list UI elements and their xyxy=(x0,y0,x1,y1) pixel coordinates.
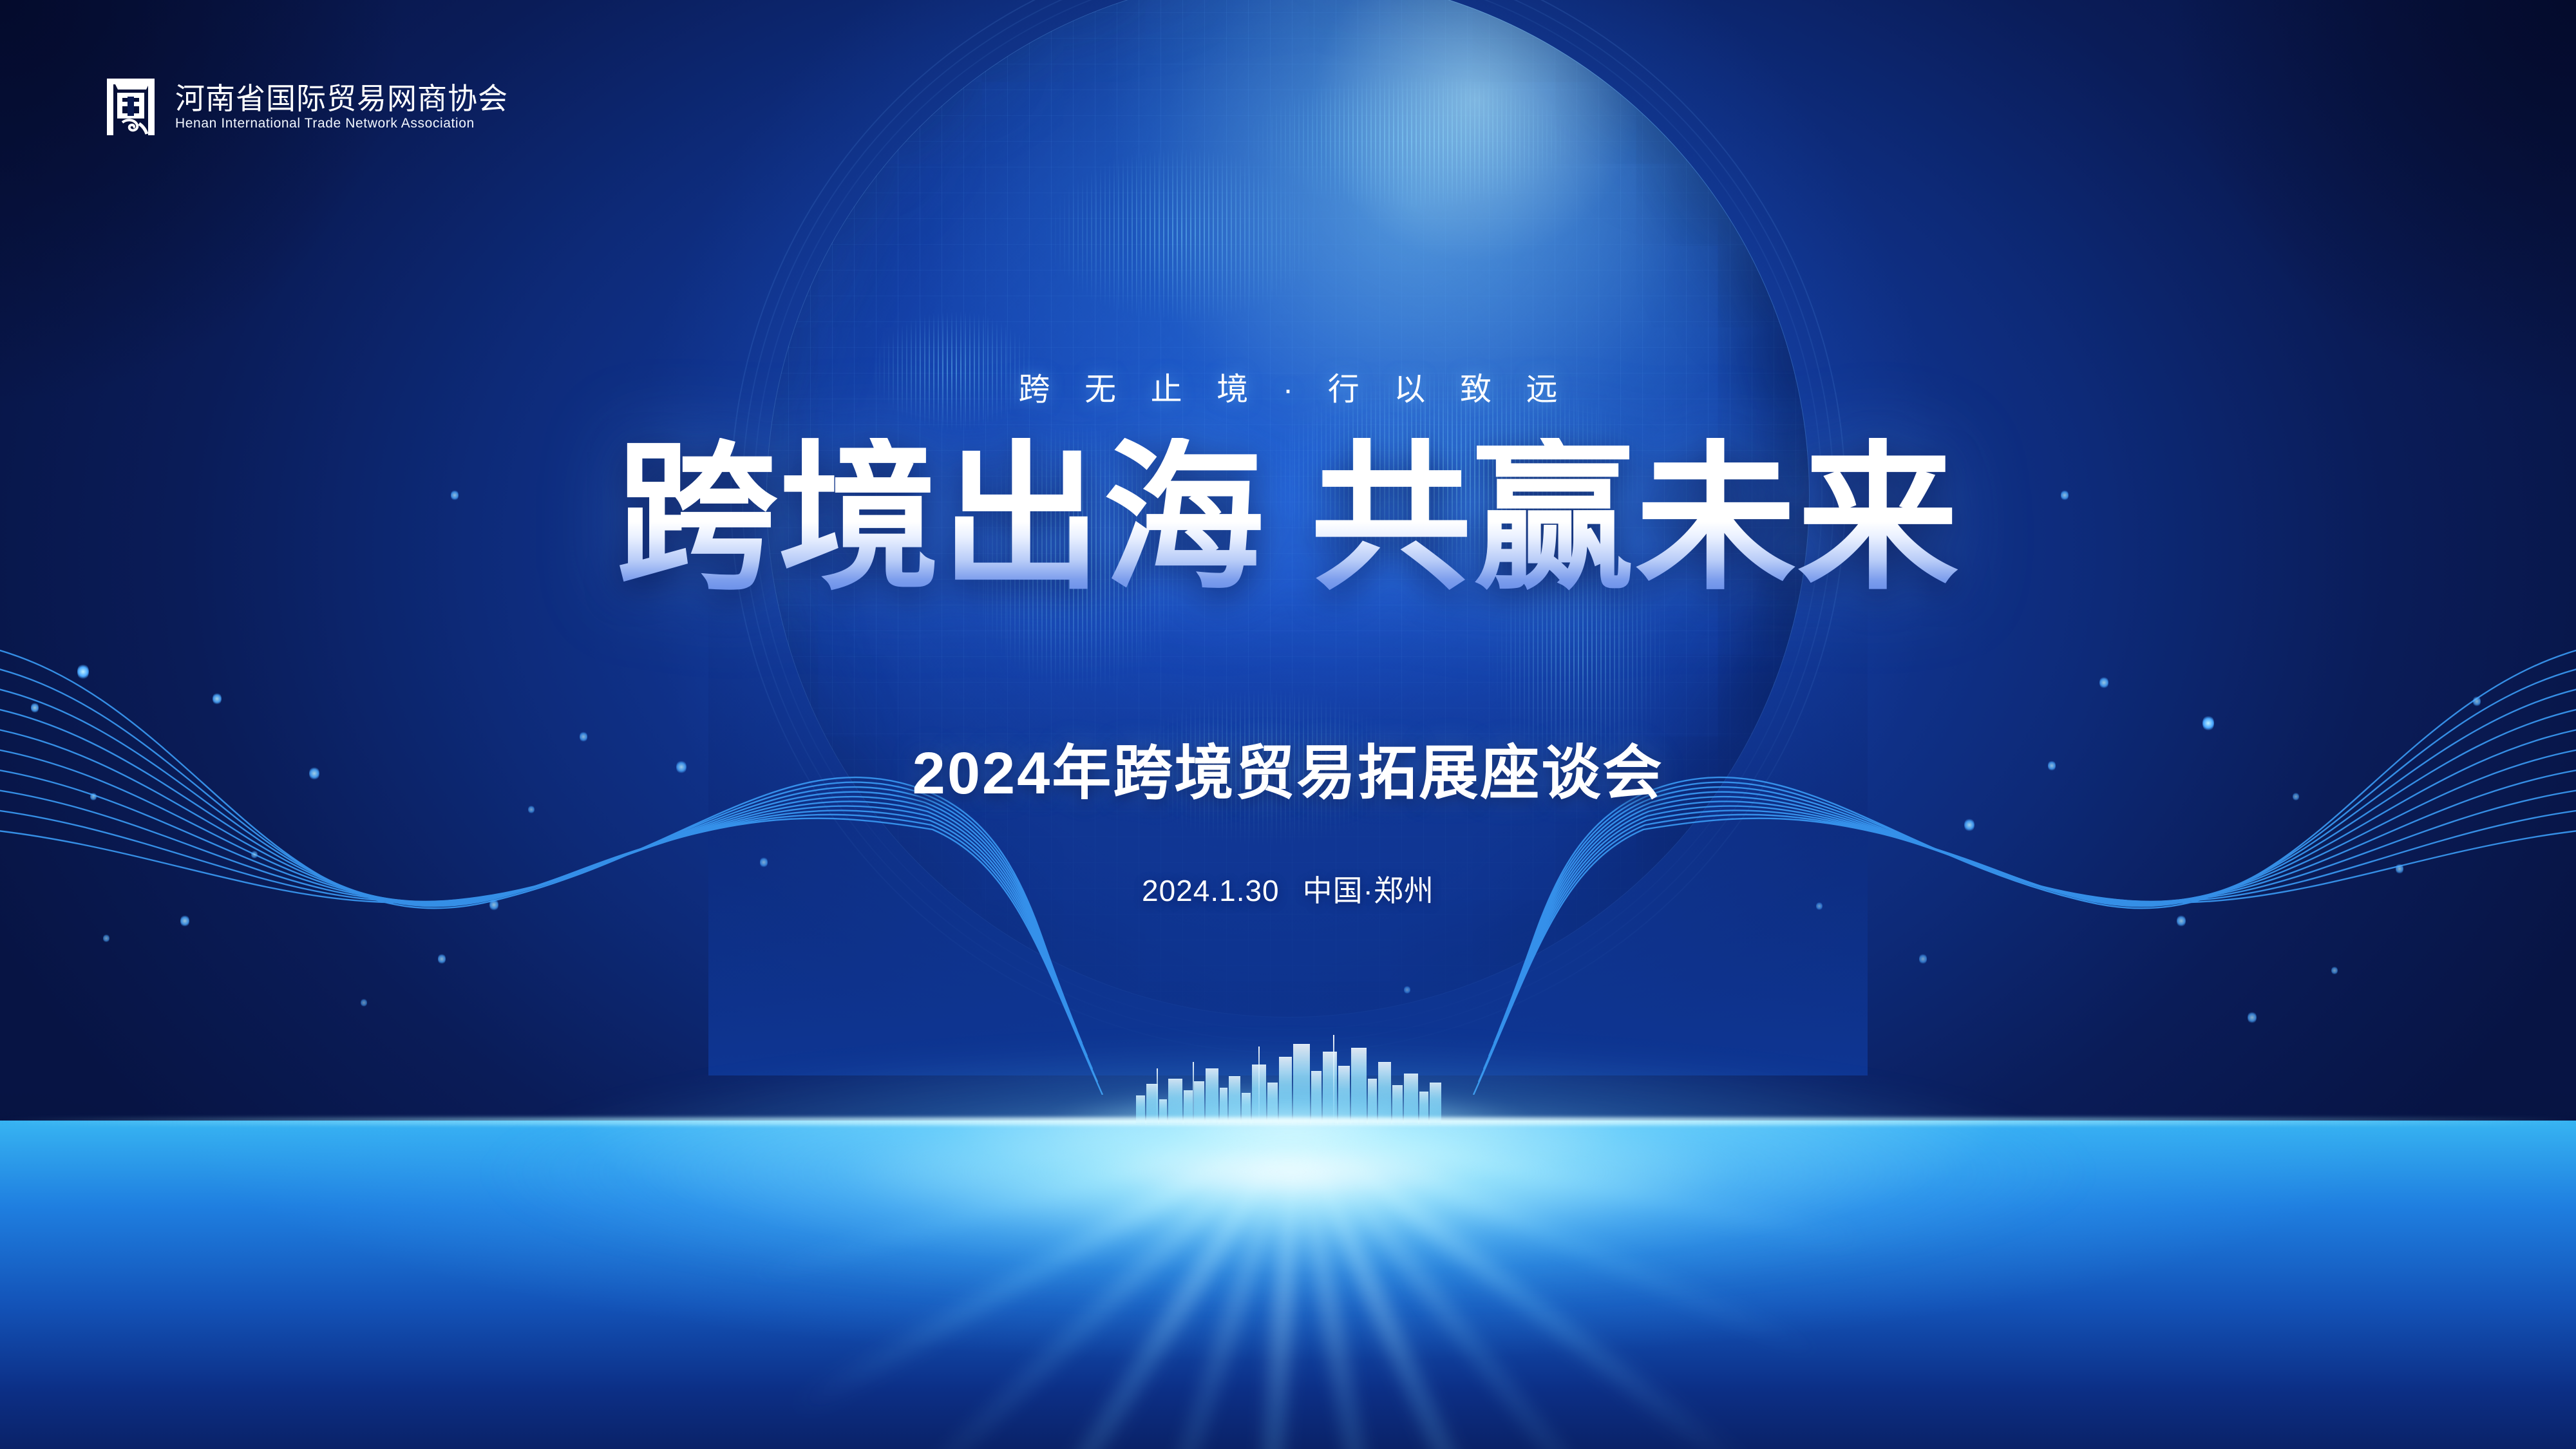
horizon-glow xyxy=(451,1037,2125,1307)
seal-script-emblem-icon xyxy=(103,76,158,138)
logo-name-cn: 河南省国际贸易网商协会 xyxy=(175,84,508,113)
main-title: 跨境出海共赢未来 xyxy=(0,438,2576,599)
horizon-line xyxy=(0,1117,2576,1125)
event-date: 2024.1.30 xyxy=(1142,874,1280,907)
association-logo[interactable]: 河南省国际贸易网商协会 Henan International Trade Ne… xyxy=(103,76,508,138)
tagline: 跨 无 止 境 · 行 以 致 远 xyxy=(0,364,2576,410)
logo-text-block: 河南省国际贸易网商协会 Henan International Trade Ne… xyxy=(175,84,508,130)
event-poster: 河南省国际贸易网商协会 Henan International Trade Ne… xyxy=(0,0,2576,1449)
logo-name-en: Henan International Trade Network Associ… xyxy=(175,117,508,130)
subtitle: 2024年跨境贸易拓展座谈会 xyxy=(0,744,2576,803)
date-location-bar: 2024.1.30中国·郑州 xyxy=(0,876,2576,905)
event-location: 中国·郑州 xyxy=(1303,874,1434,907)
main-title-part2: 共赢未来 xyxy=(1311,428,1960,608)
main-title-part1: 跨境出海 xyxy=(616,428,1265,608)
